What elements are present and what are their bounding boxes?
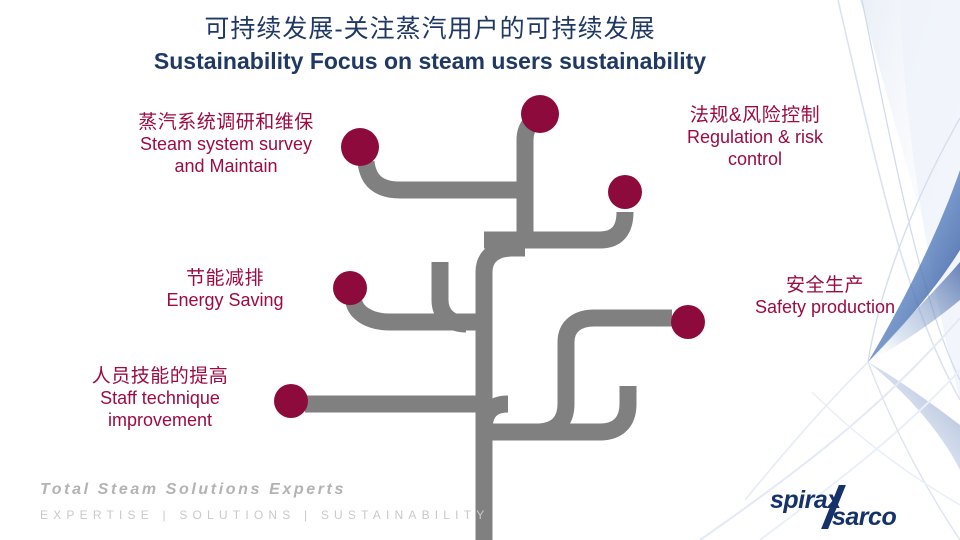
- node-steam-survey[interactable]: [341, 128, 379, 166]
- callout-label-chinese: 节能减排: [135, 268, 315, 290]
- callout-label-english-line1: Safety production: [730, 297, 920, 318]
- callout-label-english-line2: and Maintain: [110, 156, 342, 177]
- callout-steam-system-survey: 蒸汽系统调研和维保 Steam system survey and Mainta…: [110, 112, 342, 177]
- node-staff-technique[interactable]: [274, 384, 308, 418]
- footer-tagline: Total Steam Solutions Experts: [40, 481, 346, 499]
- callout-energy-saving: 节能减排 Energy Saving: [135, 268, 315, 312]
- spirax-sarco-logo: spirax sarco: [770, 486, 945, 532]
- callout-label-english-line2: control: [655, 149, 855, 170]
- node-energy-saving[interactable]: [333, 271, 367, 305]
- branch-trunk-upper-link: [484, 248, 525, 300]
- callout-label-chinese: 蒸汽系统调研和维保: [110, 112, 342, 134]
- branch-to-top-node: [525, 115, 545, 248]
- presentation-slide: 可持续发展-关注蒸汽用户的可持续发展 Sustainability Focus …: [0, 0, 960, 540]
- callout-label-english-line1: Energy Saving: [135, 290, 315, 311]
- callout-label-english-line1: Regulation & risk: [655, 127, 855, 148]
- logo-word-sarco: sarco: [832, 503, 896, 532]
- node-safety-production[interactable]: [671, 305, 705, 339]
- callout-label-english-line2: improvement: [60, 410, 260, 431]
- callout-staff-technique-improvement: 人员技能的提高 Staff technique improvement: [60, 366, 260, 431]
- callout-regulation-risk-control: 法规&风险控制 Regulation & risk control: [655, 105, 855, 170]
- callout-label-english-line1: Staff technique: [60, 388, 260, 409]
- branch-to-safety: [536, 318, 672, 432]
- callout-label-chinese: 安全生产: [730, 275, 920, 297]
- callout-label-english-line1: Steam system survey: [110, 134, 342, 155]
- callout-safety-production: 安全生产 Safety production: [730, 275, 920, 319]
- callout-label-chinese: 法规&风险控制: [655, 105, 855, 127]
- callout-label-chinese: 人员技能的提高: [60, 366, 260, 388]
- node-regulation[interactable]: [608, 175, 642, 209]
- footer-pillars: EXPERTISE | SOLUTIONS | SUSTAINABILITY: [40, 508, 489, 522]
- node-top-center[interactable]: [521, 95, 559, 133]
- branch-to-steam-survey: [366, 162, 525, 190]
